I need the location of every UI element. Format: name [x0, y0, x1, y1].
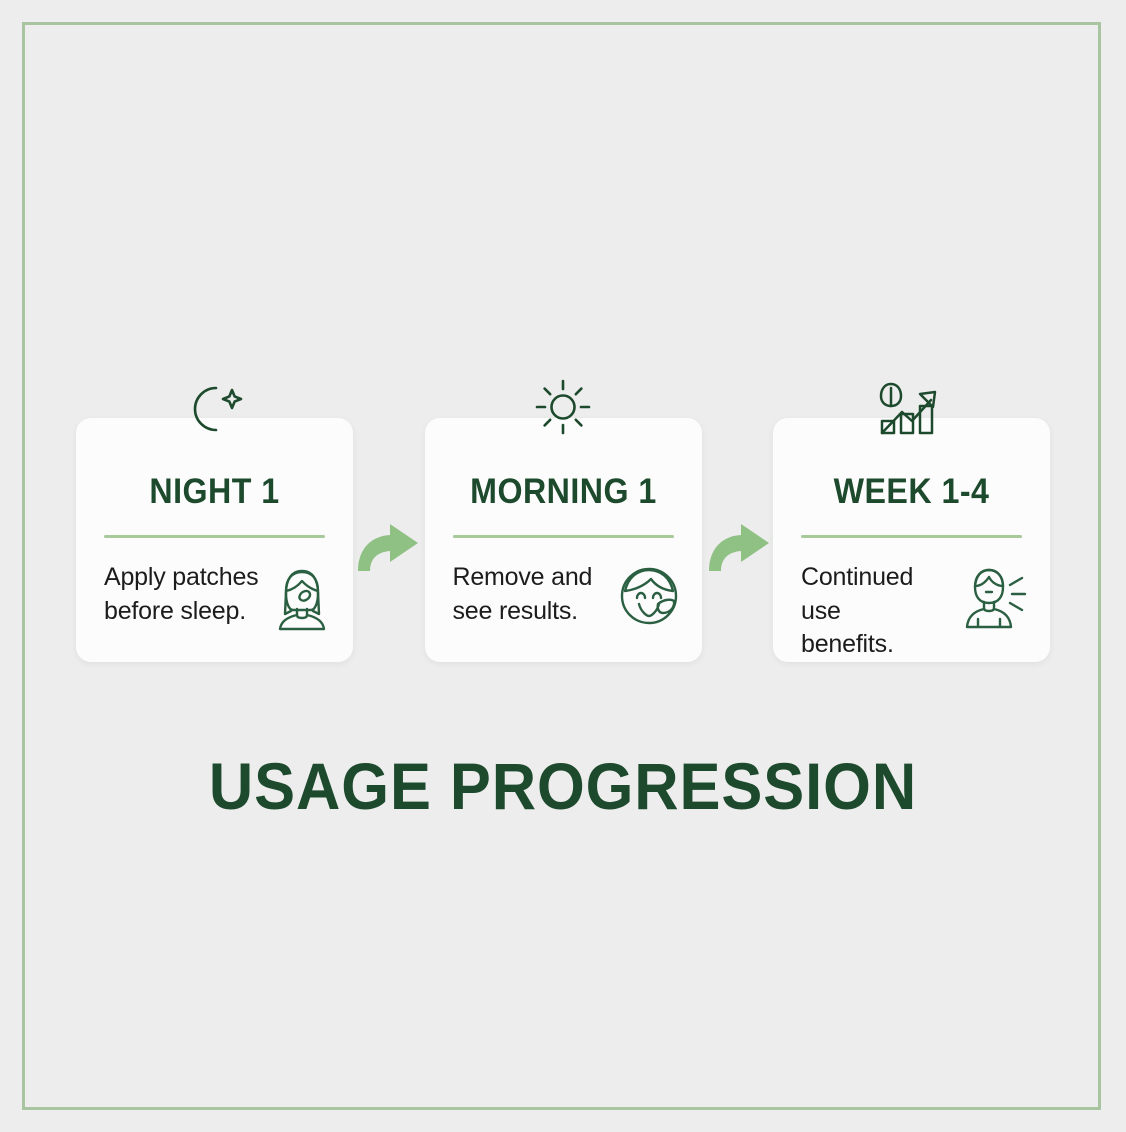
- step-card-night-1[interactable]: NIGHT 1 Apply patches before sleep.: [76, 418, 353, 662]
- card-divider: [801, 535, 1022, 538]
- card-body: Apply patches before sleep.: [104, 561, 331, 636]
- step-description: Apply patches before sleep.: [104, 561, 258, 628]
- smiling-face-with-leaf-icon: [618, 565, 680, 632]
- step-title: MORNING 1: [436, 472, 691, 512]
- curved-arrow-right-icon: [355, 521, 421, 573]
- card-divider: [104, 535, 325, 538]
- step-title: WEEK 1-4: [784, 472, 1039, 512]
- crescent-moon-star-icon: [76, 376, 353, 438]
- usage-progression-infographic: NIGHT 1 Apply patches before sleep.: [0, 0, 1126, 1132]
- step-title: NIGHT 1: [87, 472, 342, 512]
- step-card-morning-1[interactable]: MORNING 1 Remove and see results.: [425, 418, 702, 662]
- growth-chart-leaf-icon: [773, 376, 1050, 438]
- step-description: Continued use benefits.: [801, 561, 956, 662]
- steps-row: NIGHT 1 Apply patches before sleep.: [76, 418, 1050, 662]
- page-title: USAGE PROGRESSION: [39, 748, 1086, 824]
- sun-icon: [425, 376, 702, 438]
- card-body: Remove and see results.: [453, 561, 680, 632]
- curved-arrow-right-icon: [706, 521, 772, 573]
- card-body: Continued use benefits.: [801, 561, 1028, 662]
- step-card-week-1-4[interactable]: WEEK 1-4 Continued use benefits.: [773, 418, 1050, 662]
- radiant-person-icon: [962, 565, 1028, 636]
- card-divider: [453, 535, 674, 538]
- step-description: Remove and see results.: [453, 561, 593, 628]
- woman-face-with-patch-icon: [273, 565, 331, 636]
